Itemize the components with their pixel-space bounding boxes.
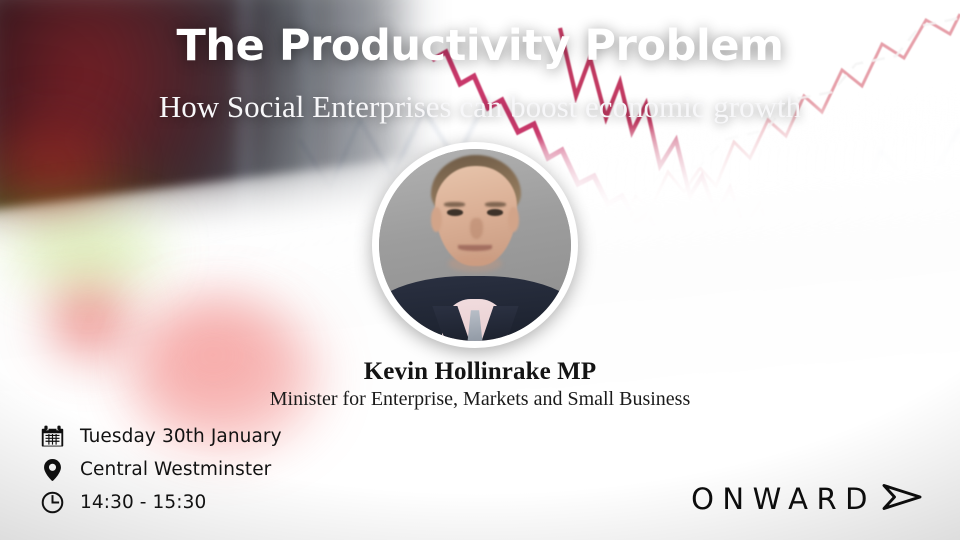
event-title: The Productivity Problem <box>0 24 960 70</box>
detail-row-date: Tuesday 30th January <box>40 420 460 453</box>
speaker-name: Kevin Hollinrake MP <box>0 358 960 386</box>
detail-value-date: Tuesday 30th January <box>80 426 282 447</box>
onward-logo: ONWARD <box>691 481 924 518</box>
event-promo-graphic: The Productivity Problem How Social Ente… <box>0 0 960 540</box>
clock-icon <box>40 490 80 515</box>
arrow-head-icon <box>880 481 924 518</box>
detail-value-time: 14:30 - 15:30 <box>80 492 206 513</box>
event-details-list: Tuesday 30th January Central Westminster… <box>40 420 460 519</box>
speaker-portrait-photo <box>379 149 571 341</box>
detail-row-location: Central Westminster <box>40 453 460 486</box>
location-pin-icon <box>40 457 80 482</box>
calendar-icon <box>40 424 80 449</box>
speaker-portrait <box>372 142 578 348</box>
detail-row-time: 14:30 - 15:30 <box>40 486 460 519</box>
speaker-role: Minister for Enterprise, Markets and Sma… <box>0 388 960 411</box>
onward-logo-wordmark: ONWARD <box>691 485 876 514</box>
event-subtitle: How Social Enterprises can boost economi… <box>0 88 960 125</box>
detail-value-location: Central Westminster <box>80 459 271 480</box>
